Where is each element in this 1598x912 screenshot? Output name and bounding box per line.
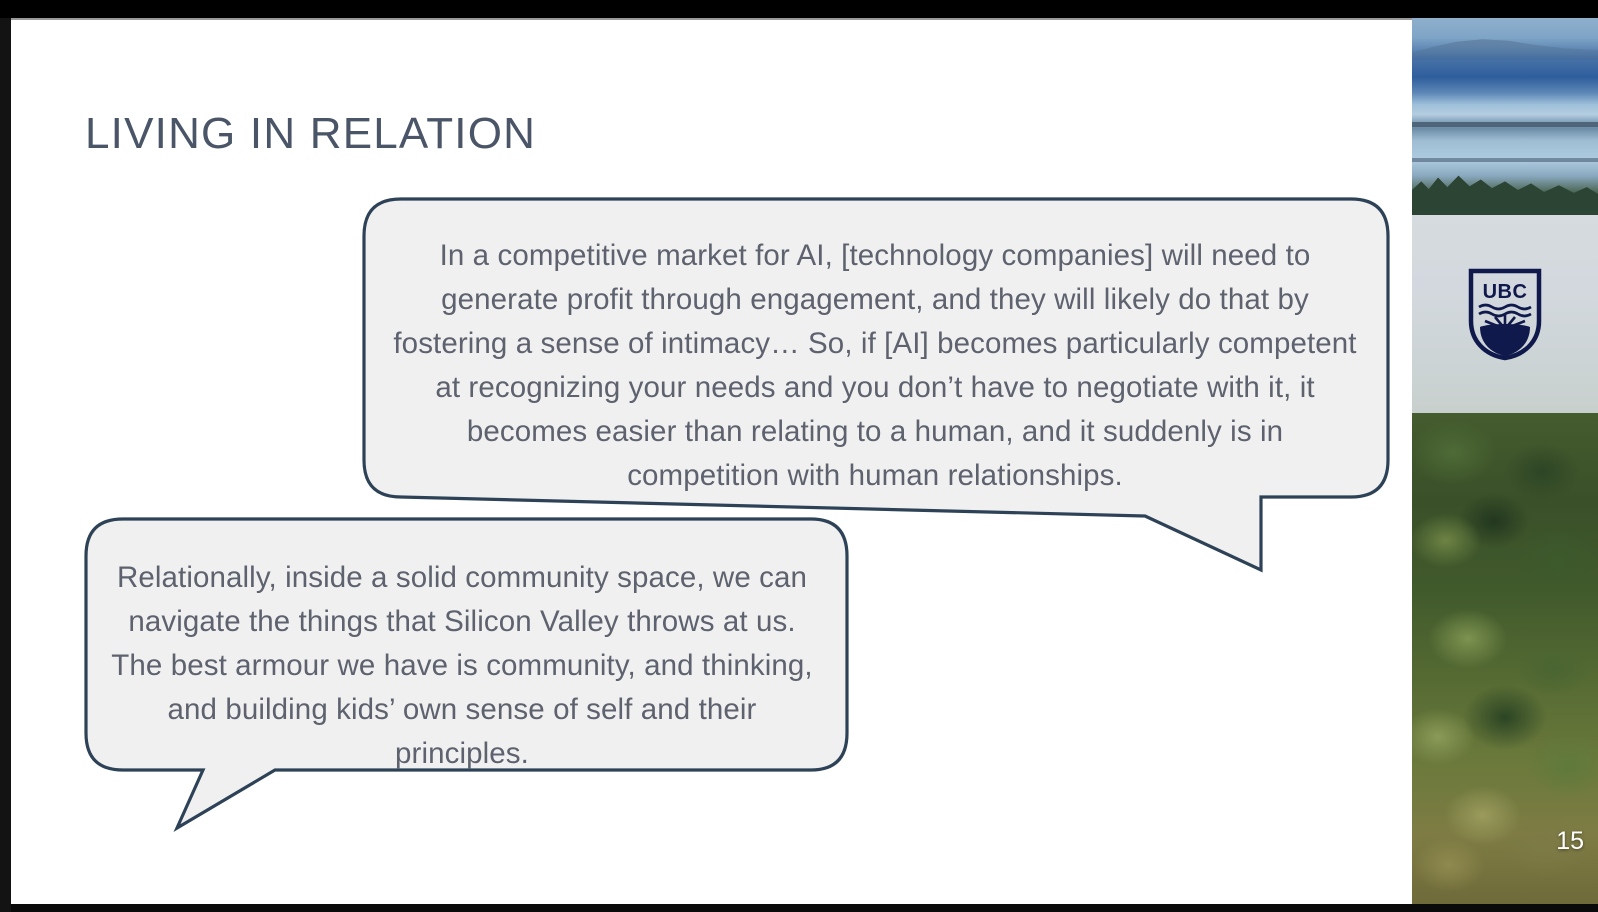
letterbox-bar-left: [0, 0, 11, 912]
page-title: LIVING IN RELATION: [85, 109, 536, 159]
letterbox-bar-top: [0, 0, 1598, 18]
quote-bubble-one-text: In a competitive market for AI, [technol…: [389, 234, 1361, 498]
page-number: 15: [1556, 827, 1584, 856]
mountain-ridge: [1412, 34, 1598, 60]
shoreline-spit-upper: [1412, 122, 1598, 127]
ubc-shield-logo: UBC: [1467, 267, 1543, 361]
quote-bubble-two: Relationally, inside a solid community s…: [85, 518, 849, 838]
presentation-slide: LIVING IN RELATION In a competitive mark…: [11, 18, 1598, 904]
photo-strip: UBC 15: [1412, 18, 1598, 904]
svg-text:UBC: UBC: [1483, 281, 1528, 303]
quote-bubble-two-text: Relationally, inside a solid community s…: [107, 556, 817, 776]
slide-viewer: LIVING IN RELATION In a competitive mark…: [0, 0, 1598, 912]
ocean-mountain-photo: [1412, 18, 1598, 215]
shoreline-spit-lower: [1412, 158, 1598, 162]
evergreen-treeline: [1412, 167, 1598, 215]
slide-top-edge-line: [11, 18, 1412, 20]
logo-panel: UBC: [1412, 215, 1598, 413]
